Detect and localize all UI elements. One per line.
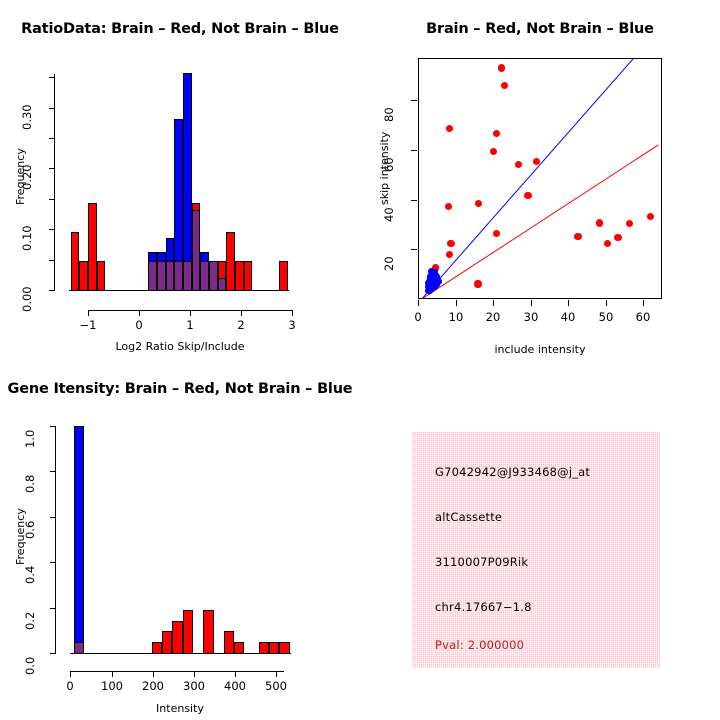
ratio-bar-red-2 [88, 203, 97, 291]
ratio-bar-red-13 [226, 232, 235, 291]
pval-text: Pval: 2.000000 [435, 638, 524, 652]
gene-y-tick [50, 426, 56, 427]
ratio-y-tick [49, 168, 55, 169]
scatter-y-tick [411, 100, 417, 101]
scatter-fit-line [422, 145, 658, 298]
ratio-bar-red-1 [79, 261, 88, 291]
ratio-bar-red-3 [97, 261, 106, 291]
ratio-bar-overlap-10 [200, 261, 209, 291]
scatter-point [647, 213, 654, 220]
ratio-y-tick-label-2: 0.20 [20, 146, 34, 190]
gene-bar-red-9 [269, 642, 279, 654]
gene-bar-red-2 [162, 631, 172, 654]
gene-intensity-panel: Gene Itensity: Brain – Red, Not Brain – … [0, 360, 360, 720]
scatter-fit-line [422, 59, 634, 298]
gene-bar-red-10 [279, 642, 289, 654]
ratio-bar-overlap-12 [218, 278, 227, 291]
ratio-bar-red-16 [279, 261, 288, 291]
gene-bar-red-3 [172, 621, 182, 654]
scatter-x-tick [568, 300, 569, 306]
gene-info-panel: G7042942@J933468@j_at altCassette 311000… [412, 432, 660, 668]
ratio-y-tick [49, 138, 55, 139]
gene-y-tick-label-2: 0.4 [23, 540, 37, 584]
ratio-histogram-plotarea: 0.000.100.200.30−10123 [0, 0, 360, 360]
gene-x-tick [112, 671, 113, 677]
scatter-point [596, 219, 603, 226]
scatter-point [474, 280, 481, 287]
scatter-regression-lines [419, 59, 661, 298]
scatter-x-tick [606, 300, 607, 306]
ratio-y-tick-label-3: 0.30 [20, 86, 34, 130]
ratio-bar-overlap-6 [166, 261, 175, 291]
gene-y-tick [50, 517, 56, 518]
gene-bar-red-4 [183, 610, 193, 654]
scatter-y-tick-label-3: 80 [382, 78, 396, 122]
ratio-bar-red-15 [244, 261, 253, 291]
ratio-bar-red-12 [218, 261, 227, 279]
scatter-y-tick [411, 249, 417, 250]
gene-y-tick-label-0: 0.0 [23, 631, 37, 675]
gene-y-tick-label-1: 0.2 [23, 586, 37, 630]
gene-bar-red-8 [259, 642, 269, 654]
ratio-y-tick [49, 290, 55, 291]
scatter-x-tick [493, 300, 494, 306]
ratio-y-tick-label-1: 0.10 [20, 207, 34, 251]
ratio-bar-overlap-4 [148, 261, 157, 291]
ratio-y-tick [49, 108, 55, 109]
ratio-bar-overlap-11 [209, 261, 218, 291]
scatter-point [524, 192, 531, 199]
gene-y-tick-label-3: 0.6 [23, 495, 37, 539]
gene-x-tick [153, 671, 154, 677]
ratio-bar-blue-4 [183, 73, 192, 291]
ratio-y-axis-line [54, 74, 55, 291]
gene-bar-blue-0 [74, 426, 84, 654]
gene-bar-red-5 [203, 610, 213, 654]
scatter-x-tick-label-6: 60 [613, 310, 673, 324]
ratio-histogram-panel: RatioData: Brain – Red, Not Brain – Blue… [0, 0, 360, 360]
gene-bar-red-6 [224, 631, 234, 654]
event-type-text: altCassette [435, 510, 502, 524]
ratio-bar-red-14 [235, 261, 244, 291]
scatter-y-tick [411, 200, 417, 201]
scatter-x-tick [531, 300, 532, 306]
gene-x-tick-label-5: 500 [246, 679, 306, 693]
gene-y-tick-label-4: 0.8 [23, 449, 37, 493]
scatter-y-tick-label-1: 40 [382, 178, 396, 222]
ratio-x-tick [190, 310, 191, 316]
ratio-x-tick [292, 310, 293, 316]
scatter-point [574, 233, 581, 240]
gene-x-tick [70, 671, 71, 677]
gene-y-tick [50, 653, 56, 654]
gene-x-tick [276, 671, 277, 677]
scatter-point [498, 64, 505, 71]
ratio-y-tick [49, 77, 55, 78]
locus-text: chr4.17667−1.8 [435, 600, 532, 614]
ratio-x-tick [241, 310, 242, 316]
ratio-bar-overlap-8 [183, 261, 192, 291]
gene-y-axis-line [55, 426, 56, 654]
scatter-point [614, 234, 621, 241]
gene-y-tick [50, 608, 56, 609]
ratio-y-tick-label-0: 0.00 [20, 268, 34, 312]
scatter-point [447, 240, 454, 247]
ratio-y-tick [49, 260, 55, 261]
probe-id-text: G7042942@J933468@j_at [435, 465, 590, 479]
ratio-x-tick [139, 310, 140, 316]
gene-bar-red-7 [234, 642, 244, 654]
gene-symbol-text: 3110007P09Rik [435, 555, 528, 569]
ratio-x-tick [88, 310, 89, 316]
ratio-y-tick [49, 199, 55, 200]
ratio-bar-overlap-7 [174, 261, 183, 291]
gene-x-tick [235, 671, 236, 677]
scatter-line-layer [419, 59, 661, 298]
gene-intensity-plotarea: 0.00.20.40.60.81.00100200300400500 [0, 360, 360, 720]
ratio-bar-red-0 [71, 232, 80, 291]
ratio-bar-overlap-5 [157, 261, 166, 291]
gene-x-axis-line [70, 671, 284, 672]
scatter-y-tick-label-0: 20 [382, 227, 396, 271]
ratio-bar-overlap-9 [192, 210, 201, 291]
ratio-x-tick-label-4: 3 [262, 318, 322, 332]
scatter-x-tick [456, 300, 457, 306]
gene-y-tick-label-5: 1.0 [23, 404, 37, 448]
gene-bar-overlap-0 [74, 642, 84, 654]
gene-x-tick [194, 671, 195, 677]
scatter-x-tick [418, 300, 419, 306]
gene-bar-red-1 [152, 642, 162, 654]
gene-y-tick [50, 471, 56, 472]
scatter-x-tick [643, 300, 644, 306]
scatter-y-tick [411, 150, 417, 151]
ratio-y-tick [49, 229, 55, 230]
scatter-plot-panel: Brain – Red, Not Brain – Blue skip inten… [360, 0, 720, 360]
scatter-point [501, 82, 508, 89]
scatter-y-tick-label-2: 60 [382, 128, 396, 172]
scatter-plot-plotarea: 010203040506020406080 [360, 0, 720, 360]
gene-y-tick [50, 562, 56, 563]
